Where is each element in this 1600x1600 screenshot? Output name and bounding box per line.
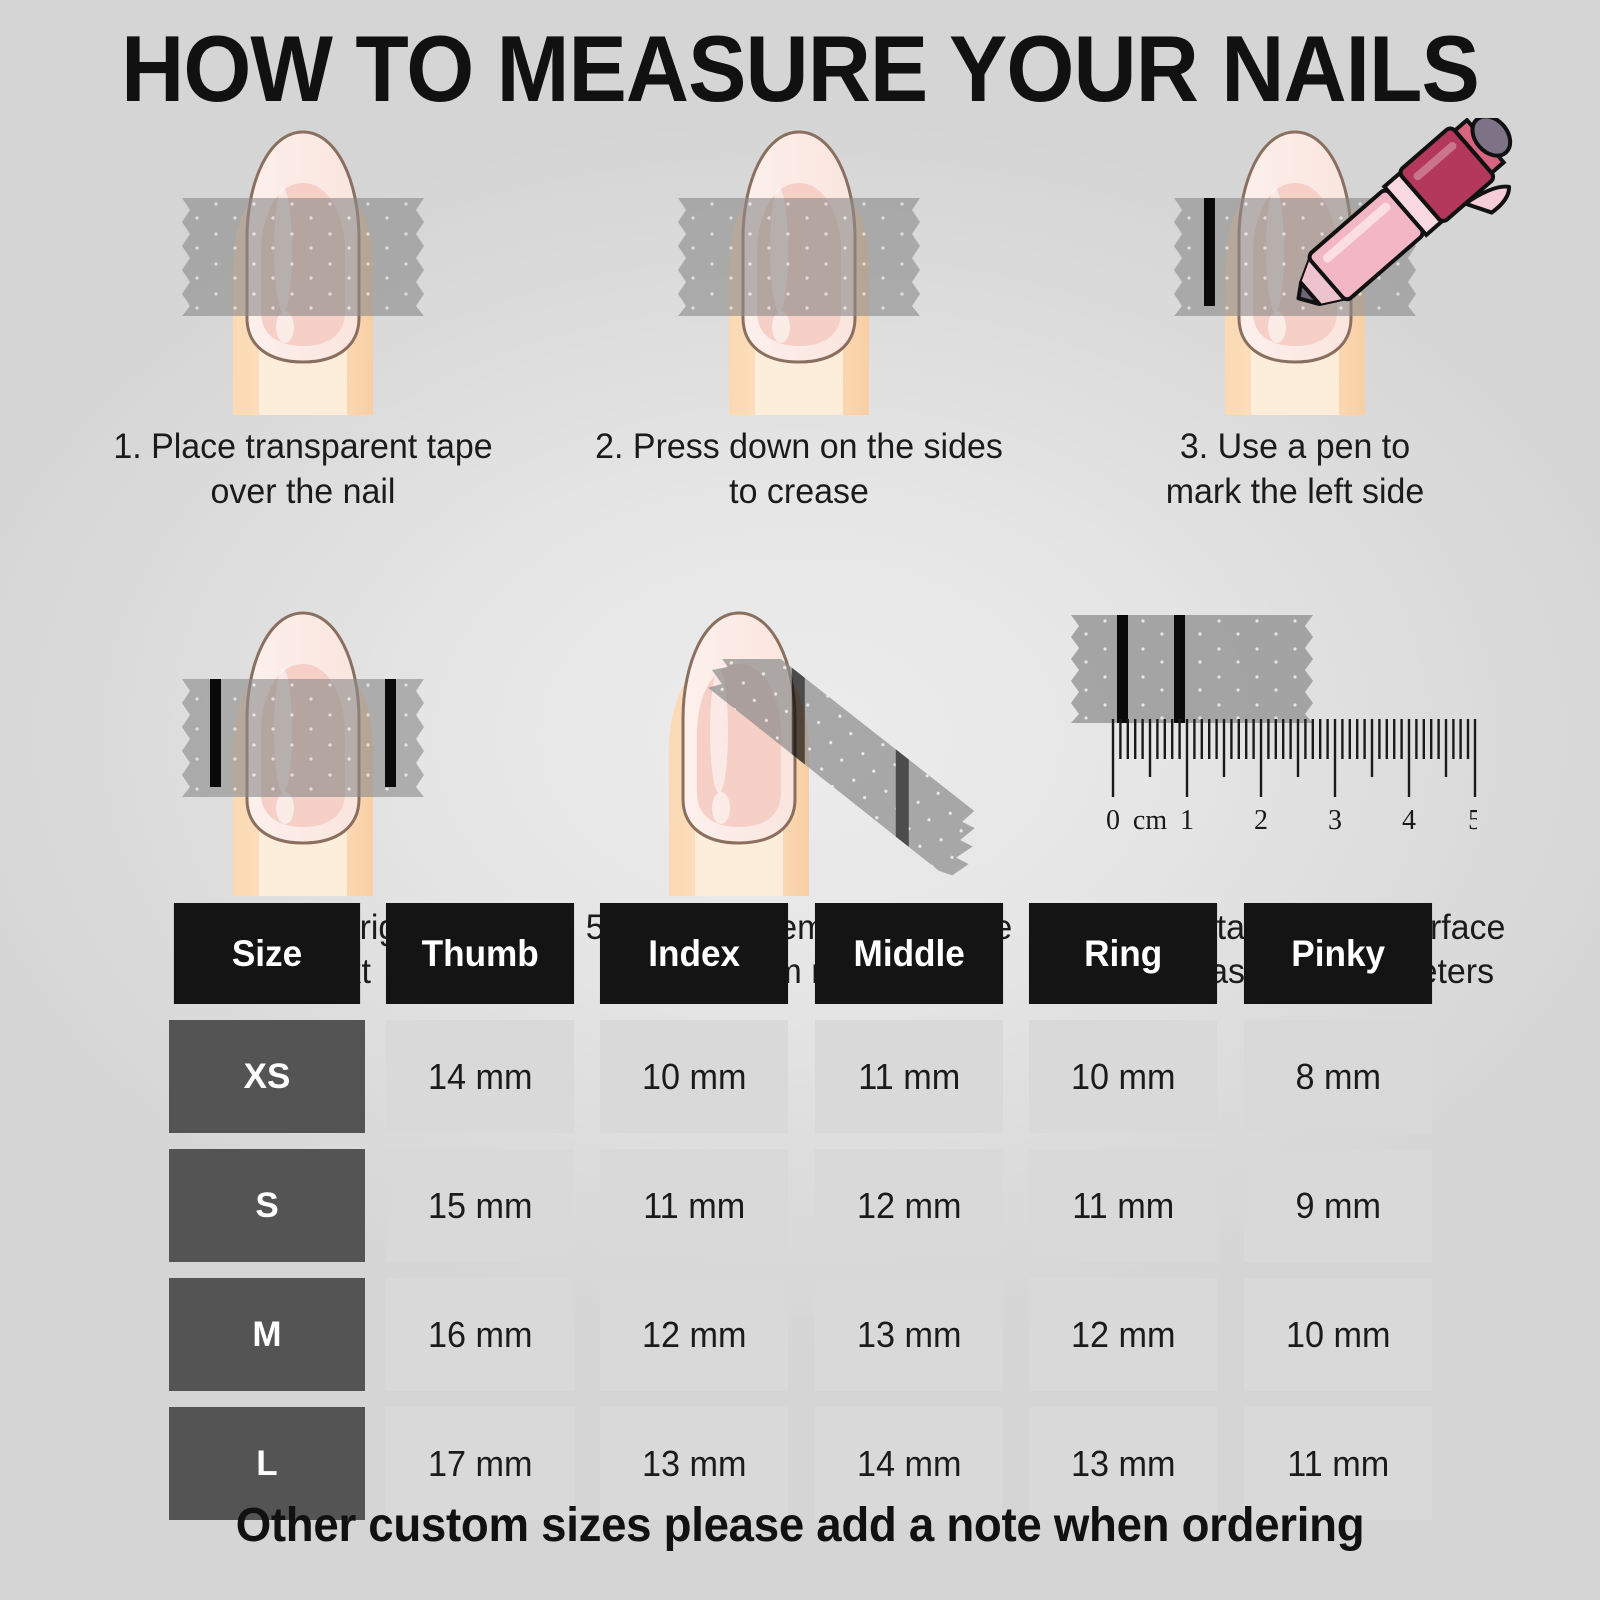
cell-m-index: 12 mm (600, 1278, 788, 1391)
cell-m-pinky: 10 mm (1244, 1278, 1432, 1391)
pen-mark-left (210, 679, 221, 787)
table-row: M16 mm12 mm13 mm12 mm10 mm (169, 1278, 1437, 1391)
cell-s-pinky: 9 mm (1244, 1149, 1432, 1262)
ruler-label-1: 1 (1180, 805, 1194, 836)
ruler-icon: 0 cm 1 2 3 4 5 (1105, 719, 1477, 839)
pen-mark-left (1204, 198, 1215, 306)
size-label-xs: XS (169, 1020, 365, 1133)
ruler-unit-label: cm (1133, 805, 1167, 836)
size-label-s: S (169, 1149, 365, 1262)
pen-icon (1252, 118, 1542, 318)
table-row: XS14 mm10 mm11 mm10 mm8 mm (169, 1020, 1437, 1133)
step-1-illustration (55, 120, 551, 415)
steps-row-1: 1. Place transparent tapeover the nail (55, 120, 1545, 515)
cell-s-ring: 11 mm (1029, 1149, 1217, 1262)
pen-mark-right (385, 679, 396, 787)
size-label-m: M (169, 1278, 365, 1391)
cell-xs-middle: 11 mm (815, 1020, 1003, 1133)
step-1-caption: 1. Place transparent tapeover the nail (62, 415, 543, 515)
cell-xs-thumb: 14 mm (386, 1020, 574, 1133)
step-2-illustration (551, 120, 1047, 415)
step-3: 3. Use a pen tomark the left side (1047, 120, 1543, 515)
ruler-label-2: 2 (1254, 805, 1268, 836)
step-2: 2. Press down on the sidesto crease (551, 120, 1047, 515)
nail-size-guide-infographic: HOW TO MEASURE YOUR NAILS (0, 0, 1600, 1600)
ruler-label-4: 4 (1402, 805, 1416, 836)
table-row: S15 mm11 mm12 mm11 mm9 mm (169, 1149, 1437, 1262)
cell-xs-ring: 10 mm (1029, 1020, 1217, 1133)
ruler-label-3: 3 (1328, 805, 1342, 836)
tape-strip-flat (1061, 615, 1323, 723)
table-header-middle: Middle (815, 903, 1003, 1004)
table-header-thumb: Thumb (386, 903, 574, 1004)
step-3-illustration (1047, 120, 1543, 415)
cell-m-thumb: 16 mm (386, 1278, 574, 1391)
step-3-caption: 3. Use a pen tomark the left side (1054, 415, 1535, 515)
cell-s-index: 11 mm (600, 1149, 788, 1262)
table-header-ring: Ring (1029, 903, 1217, 1004)
footer-note: Other custom sizes please add a note whe… (40, 1498, 1560, 1553)
tape-strip-creased (668, 198, 930, 316)
page-title: HOW TO MEASURE YOUR NAILS (56, 22, 1544, 116)
cell-xs-pinky: 8 mm (1244, 1020, 1432, 1133)
ruler-label-5: 5 (1468, 805, 1477, 836)
table-header-row: SizeThumbIndexMiddleRingPinky (169, 903, 1437, 1004)
table-header-index: Index (600, 903, 788, 1004)
table-header-size: Size (174, 903, 360, 1004)
table-header-pinky: Pinky (1244, 903, 1432, 1004)
cell-s-middle: 12 mm (815, 1149, 1003, 1262)
step-1: 1. Place transparent tapeover the nail (55, 120, 551, 515)
tape-strip (172, 198, 434, 316)
step-6-illustration: 0 cm 1 2 3 4 5 (1047, 601, 1543, 896)
cell-s-thumb: 15 mm (386, 1149, 574, 1262)
cell-m-middle: 13 mm (815, 1278, 1003, 1391)
ruler-label-0: 0 (1106, 805, 1120, 836)
step-4-illustration (55, 601, 551, 896)
cell-m-ring: 12 mm (1029, 1278, 1217, 1391)
cell-xs-index: 10 mm (600, 1020, 788, 1133)
size-chart-table: SizeThumbIndexMiddleRingPinky XS14 mm10 … (169, 903, 1437, 1536)
step-5-illustration (551, 601, 1047, 896)
tape-strip-peeled (681, 659, 1011, 879)
step-2-caption: 2. Press down on the sidesto crease (558, 415, 1039, 515)
steps-grid: 1. Place transparent tapeover the nail (55, 120, 1545, 995)
